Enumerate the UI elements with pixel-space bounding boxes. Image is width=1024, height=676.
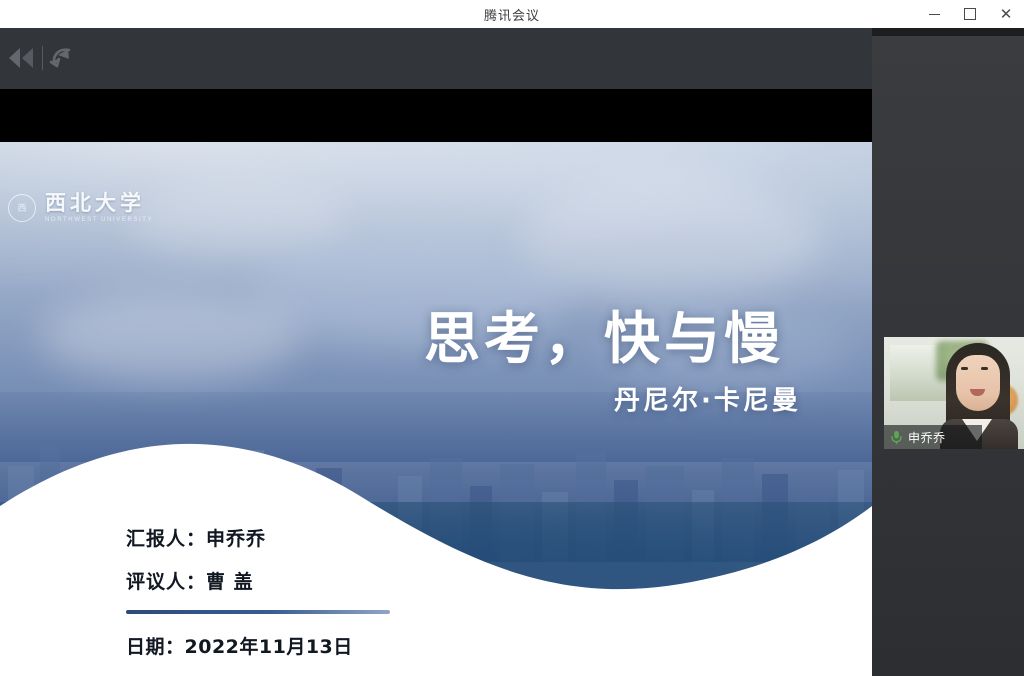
minimize-icon bbox=[929, 14, 940, 15]
back-arrow-icon[interactable] bbox=[6, 45, 36, 71]
university-name-en: NORTHWEST UNIVERSITY bbox=[45, 217, 153, 223]
participant-name: 申乔乔 bbox=[908, 429, 946, 446]
minimize-button[interactable] bbox=[916, 0, 952, 28]
shared-screen-stage[interactable]: 西 西北大学 NORTHWEST UNIVERSITY 思考，快与慢 丹尼尔·卡… bbox=[0, 28, 872, 676]
slide-credits: 汇报人：申乔乔 评议人：曹 盖 日期：2022年11月13日 bbox=[126, 524, 526, 659]
close-button[interactable]: ✕ bbox=[988, 0, 1024, 28]
letterbox-top bbox=[0, 89, 872, 142]
presentation-date: 日期：2022年11月13日 bbox=[126, 632, 526, 659]
university-logo: 西 西北大学 NORTHWEST UNIVERSITY bbox=[8, 192, 153, 223]
title-bar: 腾讯会议 ✕ bbox=[0, 0, 1024, 29]
window-title: 腾讯会议 bbox=[484, 5, 540, 24]
credits-divider bbox=[126, 610, 390, 614]
slide-title: 思考，快与慢 bbox=[424, 294, 824, 375]
reviewer-line: 评议人：曹 盖 bbox=[126, 567, 526, 594]
maximize-button[interactable] bbox=[952, 0, 988, 28]
university-seal-icon: 西 bbox=[8, 194, 36, 222]
window-controls: ✕ bbox=[916, 0, 1024, 28]
participant-video-tile[interactable]: 申乔乔 bbox=[884, 337, 1024, 449]
microphone-icon[interactable] bbox=[890, 430, 903, 445]
presenter-toolbar[interactable] bbox=[0, 28, 872, 89]
participant-rail: 申乔乔 bbox=[872, 28, 1024, 676]
university-name-cn: 西北大学 bbox=[45, 192, 153, 214]
meeting-body: 西 西北大学 NORTHWEST UNIVERSITY 思考，快与慢 丹尼尔·卡… bbox=[0, 28, 1024, 676]
university-logo-text: 西北大学 NORTHWEST UNIVERSITY bbox=[45, 192, 153, 223]
undo-arrow-icon[interactable] bbox=[49, 46, 75, 70]
rail-top-edge bbox=[872, 28, 1024, 36]
tencent-meeting-window: 腾讯会议 ✕ bbox=[0, 0, 1024, 676]
presenter-toolbar-icons bbox=[6, 40, 86, 76]
eye-shape bbox=[981, 367, 988, 370]
maximize-icon bbox=[964, 8, 976, 20]
presentation-slide: 西 西北大学 NORTHWEST UNIVERSITY 思考，快与慢 丹尼尔·卡… bbox=[0, 142, 872, 676]
close-icon: ✕ bbox=[1000, 7, 1013, 22]
eye-shape bbox=[961, 367, 968, 370]
face-shape bbox=[956, 355, 1000, 411]
toolbar-divider bbox=[42, 46, 43, 70]
presenter-line: 汇报人：申乔乔 bbox=[126, 524, 526, 551]
participant-name-badge: 申乔乔 bbox=[884, 425, 982, 449]
slide-subtitle: 丹尼尔·卡尼曼 bbox=[614, 380, 801, 417]
